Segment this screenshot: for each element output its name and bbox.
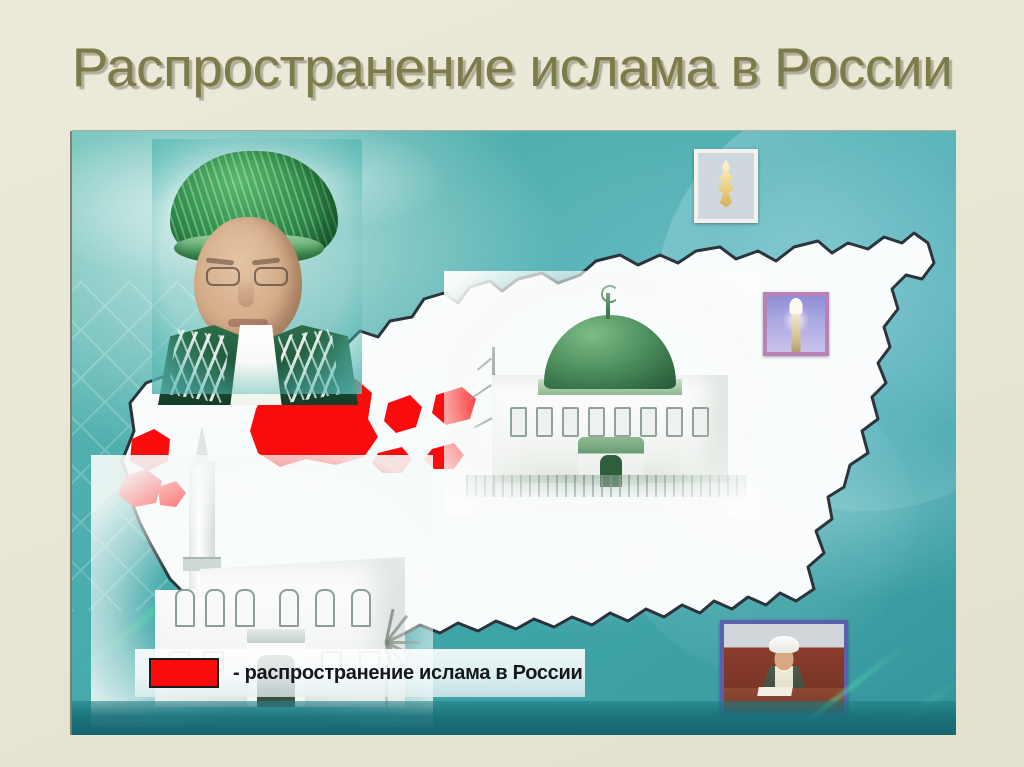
photo-feather-edge [444, 271, 760, 517]
image-bottom-band [72, 701, 956, 735]
green-dome-mosque-photo [452, 279, 752, 509]
map-legend: - распространение ислама в России [135, 649, 585, 697]
legend-color-swatch [149, 658, 219, 688]
mufti-portrait-photo [152, 139, 362, 394]
robe-embroidery-left [168, 329, 230, 403]
page-title: Распространение ислама в России [72, 36, 953, 98]
page-title-container: Распространение ислама в России [0, 36, 1024, 98]
papers-on-desk [757, 687, 793, 696]
robe-embroidery-right [278, 329, 340, 403]
inset-gold-ornament-photo [694, 149, 758, 223]
legend-label: - распространение ислама в России [233, 662, 583, 685]
white-turban [769, 636, 799, 653]
slide: Распространение ислама в России [0, 0, 1024, 767]
nose [238, 277, 254, 307]
minaret-tower [792, 312, 801, 352]
inset-minaret-photo [763, 292, 829, 356]
map-image: - распространение ислама в России [72, 131, 956, 735]
